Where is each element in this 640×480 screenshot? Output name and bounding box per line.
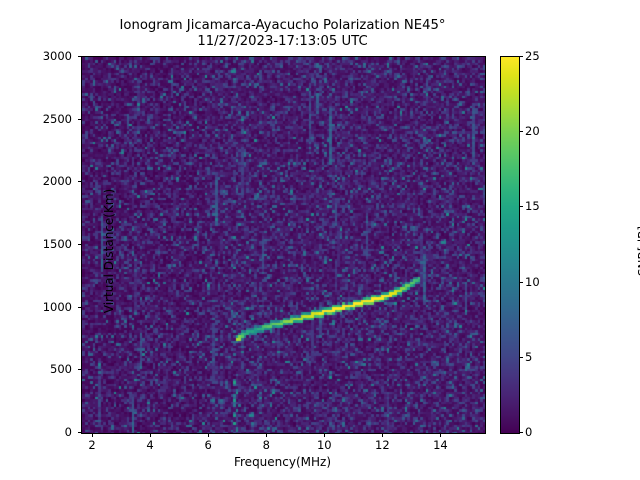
x-tick-label: 14: [433, 438, 448, 452]
x-tick-mark: [382, 433, 383, 437]
colorbar-tick-mark: [519, 131, 523, 132]
colorbar-tick-label: 20: [525, 124, 540, 138]
x-tick-label: 10: [317, 438, 332, 452]
y-axis-label: Virtual Distance(Km): [102, 63, 116, 439]
colorbar-tick-mark: [519, 282, 523, 283]
title-line-1: Ionogram Jicamarca-Ayacucho Polarization…: [0, 18, 565, 34]
colorbar-tick-label: 10: [525, 275, 540, 289]
figure-title: Ionogram Jicamarca-Ayacucho Polarization…: [0, 18, 565, 50]
plot-area: [81, 56, 486, 434]
x-tick-label: 4: [146, 438, 153, 452]
y-tick-label: 0: [72, 425, 79, 439]
colorbar-tick-mark: [519, 206, 523, 207]
ionogram-figure: Ionogram Jicamarca-Ayacucho Polarization…: [0, 0, 640, 480]
colorbar-tick-mark: [519, 432, 523, 433]
x-tick-mark: [92, 433, 93, 437]
colorbar-tick-label: 25: [525, 49, 540, 63]
x-tick-mark: [150, 433, 151, 437]
x-tick-mark: [266, 433, 267, 437]
x-tick-mark: [208, 433, 209, 437]
x-tick-mark: [324, 433, 325, 437]
colorbar-gradient: [500, 56, 520, 434]
colorbar-tick-label: 5: [525, 350, 532, 364]
colorbar-tick-label: 15: [525, 199, 540, 213]
y-tick-label: 2000: [72, 174, 101, 188]
y-tick-label: 1500: [72, 237, 101, 251]
ionogram-heatmap: [82, 57, 485, 433]
x-axis-label: Frequency(MHz): [81, 455, 484, 469]
x-tick-mark: [440, 433, 441, 437]
y-tick-label: 500: [72, 362, 94, 376]
x-tick-label: 12: [375, 438, 390, 452]
x-tick-label: 6: [204, 438, 211, 452]
colorbar-label: SNR[dB]: [636, 63, 640, 439]
title-line-2: 11/27/2023-17:13:05 UTC: [0, 34, 565, 50]
x-tick-label: 8: [263, 438, 270, 452]
colorbar-tick-mark: [519, 56, 523, 57]
colorbar-tick-label: 0: [525, 425, 532, 439]
y-tick-label: 1000: [72, 300, 101, 314]
x-tick-label: 2: [88, 438, 95, 452]
y-tick-label: 3000: [72, 49, 101, 63]
y-tick-label: 2500: [72, 112, 101, 126]
colorbar-tick-mark: [519, 357, 523, 358]
